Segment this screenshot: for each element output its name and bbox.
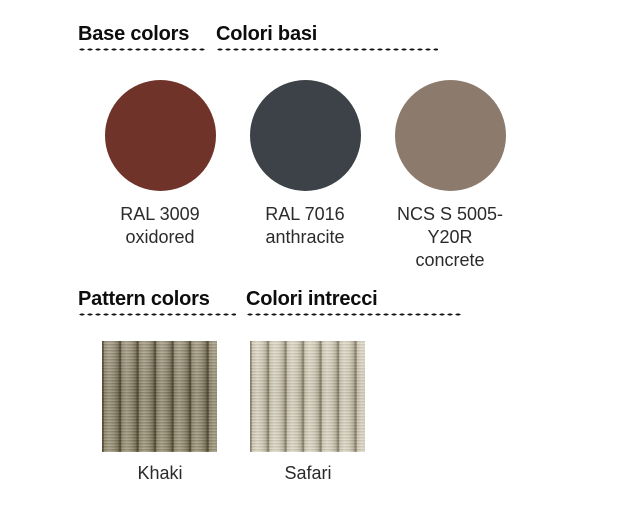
- color-swatch-ncs-s-5005-y20r[interactable]: [395, 80, 506, 191]
- pattern-label-khaki: Khaki: [85, 462, 235, 485]
- base-colors-heading-it: Colori basi: [216, 22, 438, 51]
- color-code-continued: Y20R: [375, 226, 525, 249]
- pattern-swatch-safari[interactable]: [250, 341, 365, 452]
- color-description: oxidored: [85, 226, 235, 249]
- base-colors-heading-it-text: Colori basi: [216, 22, 438, 46]
- pattern-label-safari: Safari: [233, 462, 383, 485]
- pattern-colors-heading-en: Pattern colors: [78, 287, 236, 316]
- pattern-colors-heading-en-text: Pattern colors: [78, 287, 236, 311]
- color-swatch-ral-3009[interactable]: [105, 80, 216, 191]
- dotted-rule-icon: [246, 313, 461, 316]
- pattern-colors-heading-it: Colori intrecci: [246, 287, 461, 316]
- pattern-name: Khaki: [137, 463, 182, 483]
- color-description: anthracite: [230, 226, 380, 249]
- base-colors-heading-en-text: Base colors: [78, 22, 206, 46]
- dotted-rule-icon: [78, 48, 206, 51]
- pattern-colors-heading-it-text: Colori intrecci: [246, 287, 461, 311]
- color-label-ncs-s-5005-y20r: NCS S 5005- Y20R concrete: [375, 203, 525, 272]
- pattern-colors-heading-row: Pattern colors Colori intrecci: [78, 287, 461, 316]
- color-code: RAL 3009: [85, 203, 235, 226]
- color-description: concrete: [375, 249, 525, 272]
- dotted-rule-icon: [216, 48, 438, 51]
- color-code: RAL 7016: [230, 203, 380, 226]
- pattern-name: Safari: [284, 463, 331, 483]
- color-palette-page: Base colors Colori basi RAL 3009 oxidore…: [0, 0, 621, 520]
- base-colors-heading-en: Base colors: [78, 22, 206, 51]
- color-label-ral-7016: RAL 7016 anthracite: [230, 203, 380, 249]
- color-code: NCS S 5005-: [375, 203, 525, 226]
- pattern-swatch-khaki[interactable]: [102, 341, 217, 452]
- color-swatch-ral-7016[interactable]: [250, 80, 361, 191]
- base-colors-heading-row: Base colors Colori basi: [78, 22, 438, 51]
- color-label-ral-3009: RAL 3009 oxidored: [85, 203, 235, 249]
- dotted-rule-icon: [78, 313, 236, 316]
